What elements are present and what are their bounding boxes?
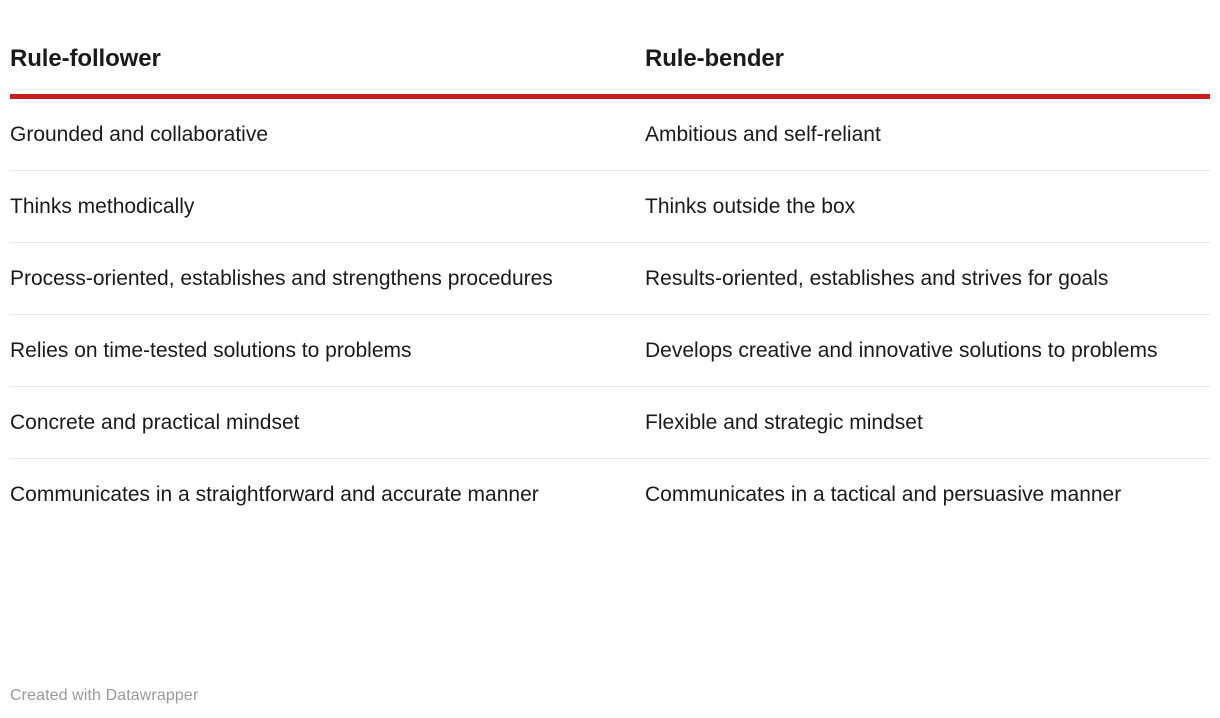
table-cell-rule-bender: Results-oriented, establishes and strive…: [645, 247, 1210, 311]
table-cell-rule-follower: Relies on time-tested solutions to probl…: [10, 319, 645, 383]
table-cell-rule-follower: Thinks methodically: [10, 175, 645, 239]
table-row: Grounded and collaborative Ambitious and…: [10, 99, 1210, 171]
column-header-rule-bender: Rule-bender: [645, 44, 1210, 74]
table-cell-rule-bender: Develops creative and innovative solutio…: [645, 319, 1210, 383]
table-cell-rule-bender: Flexible and strategic mindset: [645, 391, 1210, 455]
table-cell-rule-bender: Ambitious and self-reliant: [645, 103, 1210, 167]
table-row: Concrete and practical mindset Flexible …: [10, 387, 1210, 459]
table-cell-rule-follower: Process-oriented, establishes and streng…: [10, 247, 645, 311]
table-header-row: Rule-follower Rule-bender: [10, 0, 1210, 74]
table-row: Communicates in a straightforward and ac…: [10, 459, 1210, 531]
table-row: Thinks methodically Thinks outside the b…: [10, 171, 1210, 243]
table-cell-rule-follower: Communicates in a straightforward and ac…: [10, 463, 645, 527]
table-cell-rule-follower: Concrete and practical mindset: [10, 391, 645, 455]
table-body: Grounded and collaborative Ambitious and…: [10, 99, 1210, 531]
table-cell-rule-bender: Thinks outside the box: [645, 175, 1210, 239]
table-row: Process-oriented, establishes and streng…: [10, 243, 1210, 315]
table-row: Relies on time-tested solutions to probl…: [10, 315, 1210, 387]
datawrapper-credit[interactable]: Created with Datawrapper: [10, 686, 198, 706]
column-header-rule-follower: Rule-follower: [10, 44, 645, 74]
table-cell-rule-follower: Grounded and collaborative: [10, 103, 645, 167]
comparison-table-chart: Rule-follower Rule-bender Grounded and c…: [0, 0, 1220, 718]
table-cell-rule-bender: Communicates in a tactical and persuasiv…: [645, 463, 1210, 527]
